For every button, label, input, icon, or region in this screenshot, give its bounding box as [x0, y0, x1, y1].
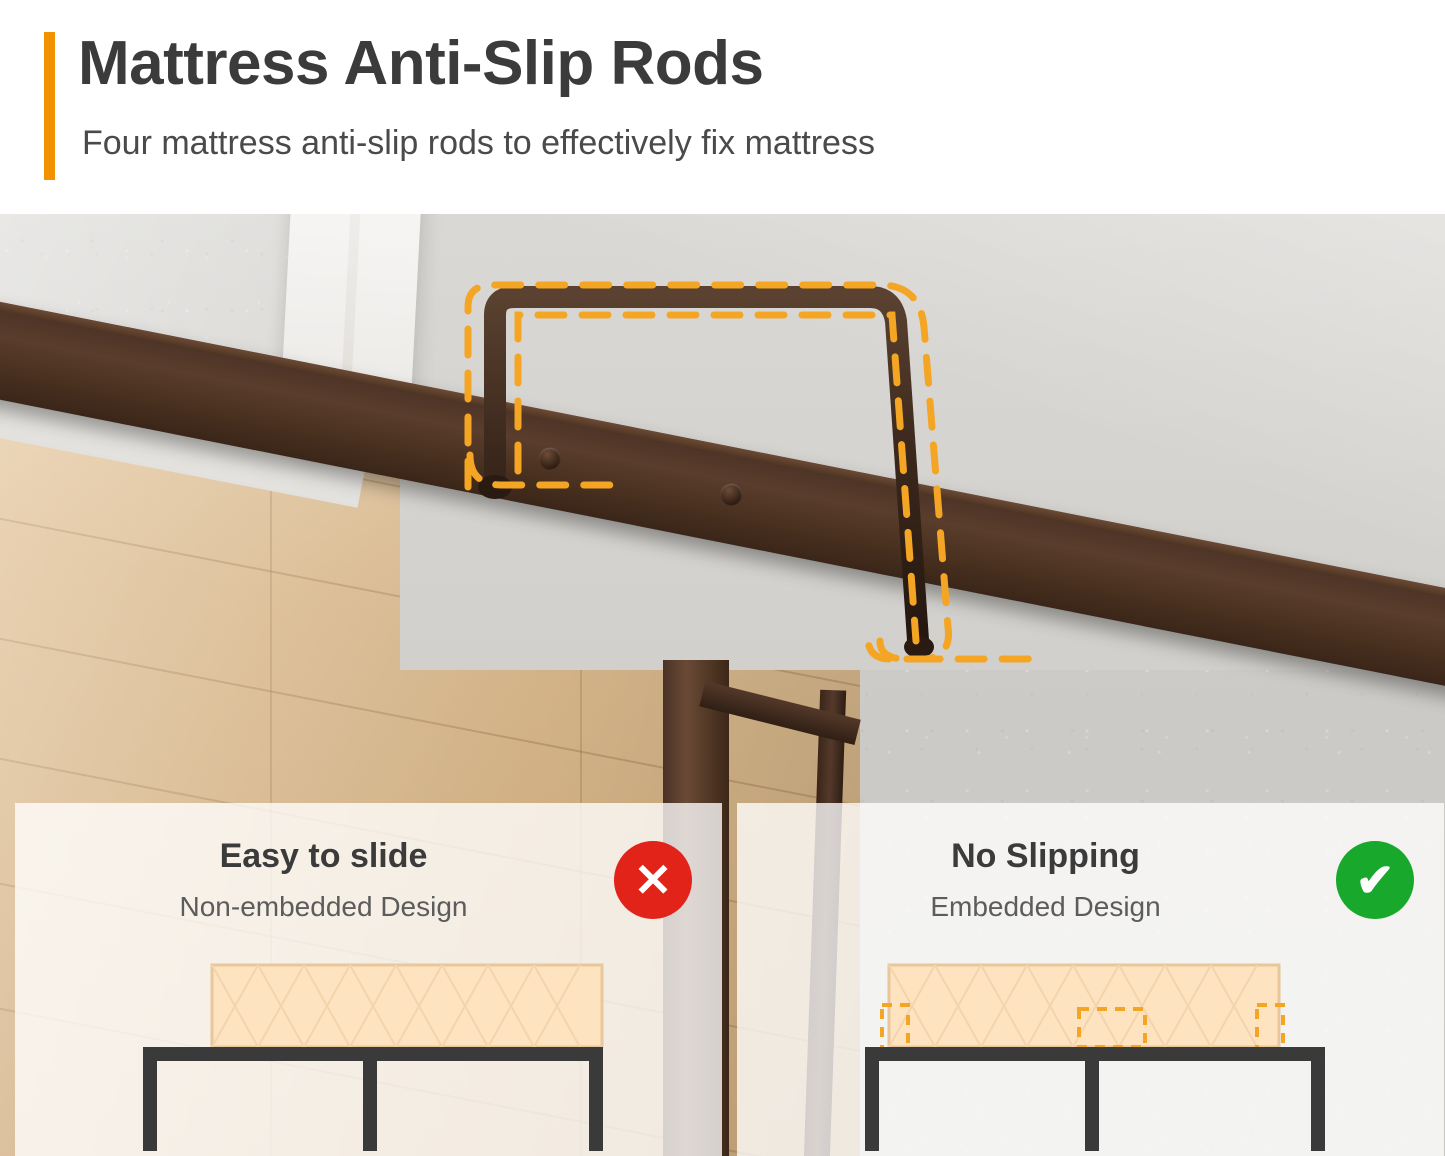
panel-subtitle-non-embedded: Non-embedded Design [15, 891, 722, 923]
comparison-panels: Easy to slide Non-embedded Design ✕ [0, 803, 1445, 1156]
diagram-non-embedded [15, 943, 722, 1153]
check-icon-glyph: ✔ [1356, 857, 1395, 903]
product-feature-image: Mattress Anti-Slip Rods Four mattress an… [0, 0, 1445, 1156]
panel-embedded: No Slipping Embedded Design ✔ [737, 803, 1444, 1156]
panel-subtitle-embedded: Embedded Design [737, 891, 1444, 923]
page-title: Mattress Anti-Slip Rods [78, 28, 764, 99]
cross-icon-glyph: ✕ [634, 857, 673, 903]
header-banner: Mattress Anti-Slip Rods Four mattress an… [0, 0, 1445, 214]
panel-non-embedded: Easy to slide Non-embedded Design ✕ [15, 803, 722, 1156]
check-icon: ✔ [1336, 841, 1414, 919]
accent-bar [44, 32, 55, 180]
cross-icon: ✕ [614, 841, 692, 919]
diagram-embedded [737, 943, 1444, 1153]
page-subtitle: Four mattress anti-slip rods to effectiv… [82, 124, 875, 163]
